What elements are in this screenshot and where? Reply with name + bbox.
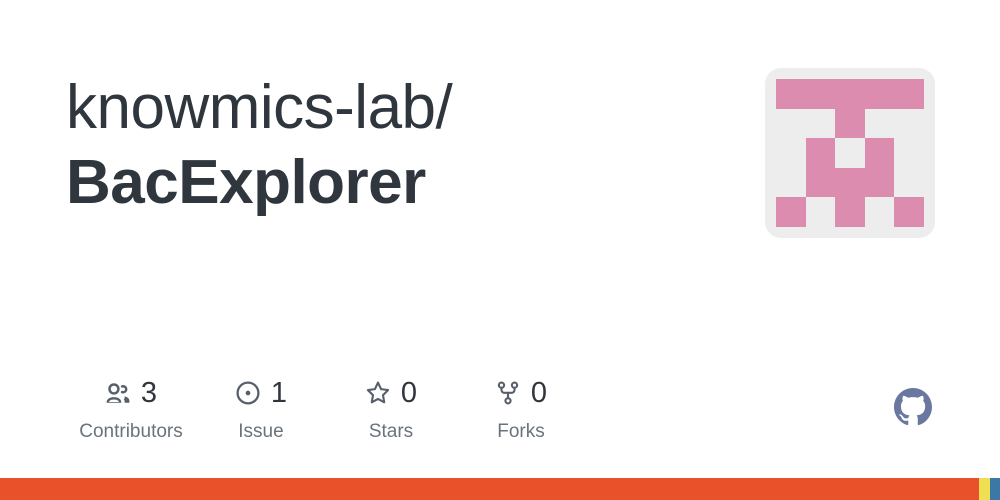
accent-stripe — [0, 478, 1000, 500]
repo-owner: knowmics-lab/ — [66, 68, 726, 147]
people-icon — [105, 380, 131, 406]
github-mark-icon — [894, 388, 932, 426]
identicon-cell-2-1 — [806, 138, 836, 168]
stat-label: Issue — [238, 422, 283, 441]
identicon-cell-3-3 — [865, 168, 895, 198]
stripe-segment-2 — [990, 478, 1000, 500]
identicon-cell-2-0 — [776, 138, 806, 168]
stripe-segment-0 — [0, 478, 979, 500]
stat-value: 0 — [401, 379, 417, 408]
identicon-cell-3-4 — [894, 168, 924, 198]
stat-top: 1 — [235, 376, 287, 410]
identicon-cell-2-3 — [865, 138, 895, 168]
identicon-cell-2-2 — [835, 138, 865, 168]
identicon-cell-4-4 — [894, 197, 924, 227]
identicon-cell-0-4 — [894, 79, 924, 109]
stat-contributors: 3Contributors — [66, 376, 196, 441]
identicon-cell-1-1 — [806, 109, 836, 139]
stat-top: 0 — [365, 376, 417, 410]
stat-top: 0 — [495, 376, 547, 410]
stat-stars: 0Stars — [326, 376, 456, 441]
identicon-cell-4-3 — [865, 197, 895, 227]
stripe-segment-1 — [979, 478, 990, 500]
identicon-cell-1-0 — [776, 109, 806, 139]
identicon-cell-4-2 — [835, 197, 865, 227]
stat-value: 1 — [271, 379, 287, 408]
stat-issue: 1Issue — [196, 376, 326, 441]
repo-name: BacExplorer — [66, 143, 726, 222]
identicon-cell-4-1 — [806, 197, 836, 227]
identicon-cell-3-0 — [776, 168, 806, 198]
identicon-cell-0-2 — [835, 79, 865, 109]
identicon-cell-1-4 — [894, 109, 924, 139]
stat-label: Stars — [369, 422, 413, 441]
repo-stats: 3Contributors1Issue0Stars0Forks — [66, 376, 586, 441]
issue-opened-icon — [235, 380, 261, 406]
stat-label: Forks — [497, 422, 545, 441]
stat-value: 3 — [141, 379, 157, 408]
identicon-cell-3-1 — [806, 168, 836, 198]
identicon-cell-1-2 — [835, 109, 865, 139]
identicon-cell-0-3 — [865, 79, 895, 109]
avatar — [765, 68, 935, 238]
repo-forked-icon — [495, 380, 521, 406]
stat-value: 0 — [531, 379, 547, 408]
identicon-cell-2-4 — [894, 138, 924, 168]
stat-top: 3 — [105, 376, 157, 410]
identicon-cell-0-1 — [806, 79, 836, 109]
stat-forks: 0Forks — [456, 376, 586, 441]
identicon-cell-4-0 — [776, 197, 806, 227]
social-preview-card: knowmics-lab/ BacExplorer 3Contributors1… — [0, 0, 1000, 500]
star-icon — [365, 380, 391, 406]
identicon-cell-0-0 — [776, 79, 806, 109]
stat-label: Contributors — [79, 422, 183, 441]
repo-title: knowmics-lab/ BacExplorer — [66, 68, 726, 223]
identicon-cell-1-3 — [865, 109, 895, 139]
identicon-grid — [776, 79, 924, 227]
identicon-cell-3-2 — [835, 168, 865, 198]
